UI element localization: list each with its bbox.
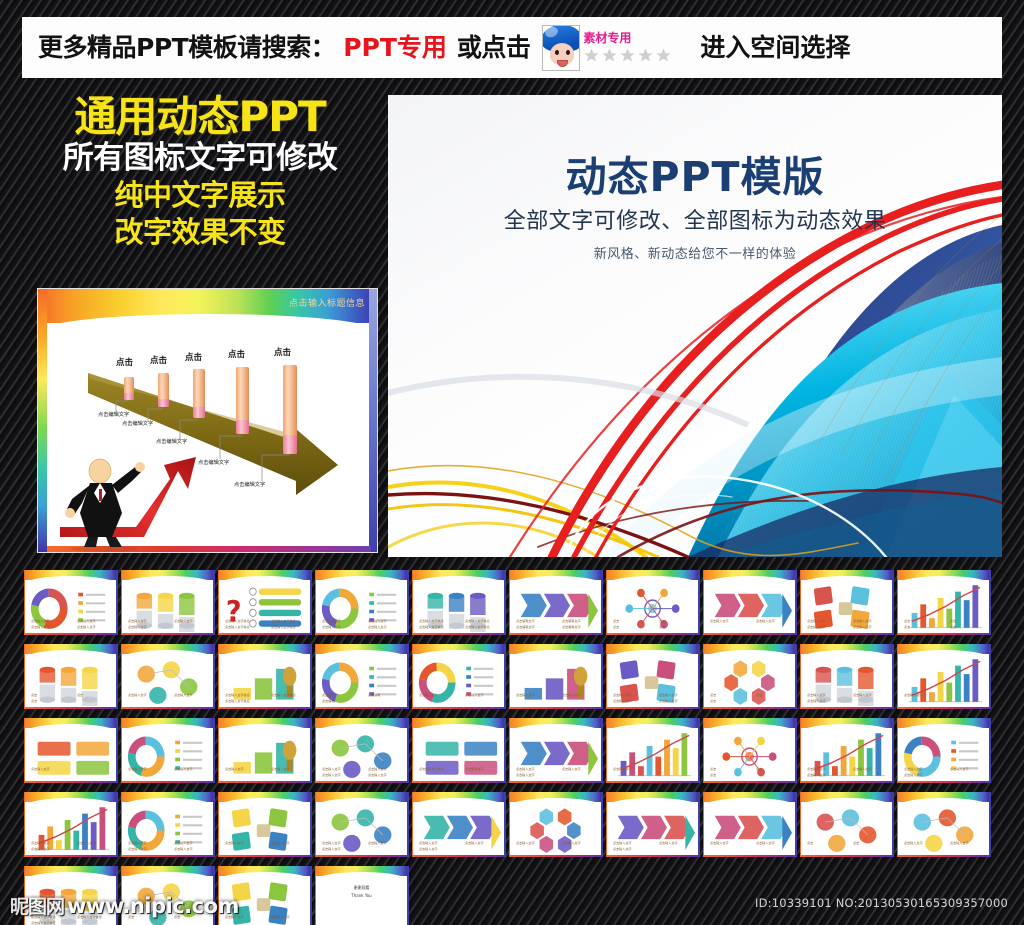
thumbnail-bottom-band (704, 855, 795, 857)
star-icon (601, 47, 618, 64)
thumbnail-label: 点击 (807, 840, 813, 845)
thumbnail-label: 点击输入文字 (807, 624, 826, 629)
hero-tagline: 新风格、新动态给您不一样的体验 (388, 243, 1002, 262)
thumbnail-label: 点击输入文字信息 (225, 618, 250, 623)
slide-thumbnail-grid: 点击输入文字点击输入文字点击输入文字点击输入文字 点击输入文字点击输入文字点击输… (24, 570, 1004, 925)
thumbnail-label: 点击输入文字 (31, 624, 50, 629)
interlocking-arrow-diamonds-icon (222, 803, 307, 854)
thumbnail-label: 点击输入文字 (562, 840, 581, 845)
slide-thumbnail[interactable]: 点击点击点击点击 (897, 570, 991, 635)
thumbnail-bottom-band (510, 781, 601, 783)
slide-thumbnail[interactable]: 点击编辑点击编辑点击编辑 (315, 644, 409, 709)
three-funnels-to-cylinders-icon (28, 655, 113, 706)
thumbnail-label: 点击输入文字信息 (271, 618, 296, 623)
thumbnail-bottom-band (413, 781, 504, 783)
thumbnail-label: 点击输入文字 (904, 840, 923, 845)
thumbnail-label: 点击输入文字 (419, 846, 438, 851)
slide-thumbnail[interactable]: 点击输入文字点击输入文字点击输入文字点击输入文字 (606, 644, 700, 709)
thumbnail-bottom-band (898, 855, 989, 857)
thumbnail-label: 点击输入文字 (562, 692, 581, 697)
thumbnail-label: 点击输入文字 (853, 766, 872, 771)
thumbnail-label: 点击输入文字 (128, 766, 147, 771)
balloon-tree-hierarchy-icon (804, 803, 889, 854)
thumbnail-label: 点击 (950, 618, 956, 623)
thumbnail-label: 点击输入文字 (659, 840, 678, 845)
molecule-goblets-diagram-icon (707, 729, 792, 780)
thumbnail-top-band (413, 718, 504, 728)
thumbnail-top-band (704, 570, 795, 580)
promo-header-banner: 更多精品PPT模板请搜索： PPT专用 或点击 素材专用 进入空间选择 (22, 17, 1002, 78)
slide-thumbnail[interactable]: 点击输入文字点击输入文字 (703, 792, 797, 857)
thumbnail-bottom-band (25, 633, 116, 635)
thumbnail-top-band (704, 644, 795, 654)
promo-line-4: 改字效果不变 (24, 215, 376, 250)
header-mid-text: 或点击 (457, 35, 531, 60)
slide-thumbnail[interactable]: 点击输入文字信息点击输入文字信息点击输入文字信息 (218, 644, 312, 709)
thumbnail-top-band (704, 792, 795, 802)
thumbnail-top-band (122, 644, 213, 654)
thumbnail-label: 点击输入文字 (322, 766, 341, 771)
thumbnail-top-band (704, 718, 795, 728)
thumbnail-bottom-band (122, 707, 213, 709)
thumbnail-label: 点击输入文字 (368, 618, 387, 623)
four-discs-network-icon (610, 581, 695, 632)
thumbnail-bottom-band (122, 633, 213, 635)
thumbnail-label: 点击 (710, 766, 716, 771)
thumbnail-artwork (901, 581, 986, 632)
thumbnail-bottom-band (898, 707, 989, 709)
thumbnail-label: 点击 (904, 624, 910, 629)
slide-thumbnail[interactable]: 点击输入文字 (897, 644, 991, 709)
header-star-rating (583, 47, 672, 64)
thumbnail-label: 点击输入文字 (368, 624, 387, 629)
thumbnail-label: 点击输入文字 (516, 772, 535, 777)
thumbnail-artwork (901, 655, 986, 706)
thumbnail-top-band (510, 792, 601, 802)
thumbnail-label: 点击输入文字 (710, 840, 729, 845)
thumbnail-label: 点击编辑文字 (562, 624, 581, 629)
thumbnail-label: 点击 (659, 618, 665, 623)
thumbnail-label: 点击输入文字 (322, 840, 341, 845)
slide-thumbnail[interactable]: 点击输入文字点击输入文字点击输入文字 (24, 792, 118, 857)
thumbnail-label: 点击输入文字 (31, 846, 50, 851)
header-badge-label: 素材专用 (583, 32, 672, 45)
six-petal-flower-with-figures-icon (707, 655, 792, 706)
thumbnail-label: 点击输入文字 (807, 772, 826, 777)
thumbnail-top-band (316, 570, 407, 580)
thumbnail-top-band (413, 644, 504, 654)
thumbnail-label: 点击输入文字 (807, 698, 826, 703)
star-icon (637, 47, 654, 64)
slide-thumbnail[interactable]: 点击输入文字点击输入文字 (121, 644, 215, 709)
thumbnail-top-band (801, 570, 892, 580)
percent-figure-with-hexagons-icon (513, 803, 598, 854)
promo-line-3: 纯中文字展示 (24, 178, 376, 213)
slide-thumbnail[interactable]: 点击输入文字 (24, 718, 118, 783)
thumbnail-label: 点击输入文字 (562, 766, 581, 771)
descending-arrow-with-columns-icon (901, 581, 986, 632)
thumbnail-label: 点击输入文字 (128, 840, 147, 845)
thumbnail-top-band (510, 718, 601, 728)
thumbnail-artwork (610, 729, 695, 780)
slide-thumbnail[interactable]: 点击输入文字点击输入文字 (121, 718, 215, 783)
hero-subtitle: 全部文字可修改、全部图标为动态效果 (388, 203, 1002, 235)
thumbnail-label: 点击 (853, 840, 859, 845)
thumbnail-label: 点击输入文字 (710, 618, 729, 623)
chart-leader-label: 点击编辑文字 (122, 420, 153, 427)
thumbnail-label: 点击输入文字 (613, 846, 632, 851)
thumbnail-label: 点击输入文字 (659, 698, 678, 703)
thumbnail-label: 点击输入文字 (77, 624, 96, 629)
thumbnail-label: 点击输入文字 (613, 698, 632, 703)
header-keyword[interactable]: PPT专用 (343, 35, 447, 60)
thumbnail-label: 点击输入文字 (225, 840, 244, 845)
thumbnail-label: 点击 (613, 624, 619, 629)
thumbnail-top-band (25, 570, 116, 580)
thumbnail-label: 点击输入文字 (128, 618, 147, 623)
thumbnail-artwork (222, 803, 307, 854)
thumbnail-label: 点击输入文字 (77, 618, 96, 623)
thumbnail-label: 点击输入文字 (368, 766, 387, 771)
thumbnail-bottom-band (607, 633, 698, 635)
thumbnail-label: 点击输入文字信息 (31, 920, 56, 925)
thumbnail-top-band (898, 570, 989, 580)
thumbnail-top-band (316, 718, 407, 728)
thumbnail-bottom-band (25, 707, 116, 709)
thumbnail-label: 点击输入文字 (950, 766, 969, 771)
thumbnail-top-band (607, 792, 698, 802)
thumbnail-label: 点击输入文字 (271, 914, 290, 919)
slide-thumbnail[interactable]: 点击输入文字信息点击输入文字信息点击输入文字信息点击输入文字信息 (412, 570, 506, 635)
thumbnail-label: 点击输入文字信息 (225, 698, 250, 703)
thumbnail-label: 点击输入文字 (419, 840, 438, 845)
thumbnail-artwork (222, 729, 307, 780)
thumbnail-artwork (513, 803, 598, 854)
chart-leader-label: 点击编辑文字 (98, 411, 129, 418)
thumbnail-bottom-band (219, 855, 310, 857)
thumbnail-top-band (219, 718, 310, 728)
slide-thumbnail[interactable]: 点击输入文字点击输入文字点击输入文字点击输入文字 (315, 718, 409, 783)
slide-thumbnail[interactable]: 谢谢观看Thank You (315, 866, 409, 925)
thumbnail-top-band (316, 866, 407, 876)
thumbnail-label: 点击输入文字 (904, 692, 923, 697)
thumbnail-top-band (122, 792, 213, 802)
thumbnail-top-band (219, 570, 310, 580)
thumbnail-top-band (801, 718, 892, 728)
thumbnail-label: 点击输入文字 (128, 846, 147, 851)
thumbnail-label: 点击输入文字信息 (225, 692, 250, 697)
thumbnail-label: 点击输入文字 (904, 766, 923, 771)
avatar-mouth (557, 60, 568, 67)
thumbnail-label: 点击编辑文字 (562, 618, 581, 623)
thumbnail-label: 点击输入文字 (174, 692, 193, 697)
slide-thumbnail[interactable]: 点击输入文字点击输入文字点击输入文字点击输入文字 (121, 792, 215, 857)
promo-text-block: 通用动态PPT 所有图标文字可修改 纯中文字展示 改字效果不变 (24, 96, 376, 250)
thumbnail-label: 点击输入文字 (756, 840, 775, 845)
thumbnail-label: 点击输入文字 (516, 766, 535, 771)
thumbnail-label: 点击输入文字信息 (465, 618, 490, 623)
thumbnail-bottom-band (413, 855, 504, 857)
thumbnail-bottom-band (607, 855, 698, 857)
slide-thumbnail[interactable]: 点击输入文字 (606, 718, 700, 783)
slide-thumbnail[interactable]: 点击编辑文字点击编辑文字点击编辑文字点击编辑文字 (509, 570, 603, 635)
thumbnail-label: 点击编辑文字信息 (419, 766, 444, 771)
thumbnail-label: 点击 (659, 624, 665, 629)
thumbnail-label: 点击 (31, 698, 37, 703)
thumbnail-top-band (219, 866, 310, 876)
thumbnail-label: 点击输入文字 (807, 618, 826, 623)
thumbnail-bottom-band (25, 855, 116, 857)
slide-thumbnail[interactable]: ? 点击输入文字信息点击输入文字信息点击输入文字信息点击输入文字信息 (218, 570, 312, 635)
thumbnail-artwork (901, 803, 986, 854)
chart-column-header: 点击 (228, 348, 245, 360)
slide-thumbnail[interactable]: 点击输入文字点击输入文字点击输入文字点击输入文字 (800, 570, 894, 635)
thumbnail-bottom-band (801, 781, 892, 783)
slide-thumbnail[interactable]: 点击输入文字点击输入文字点击输入文字点击输入文字 (315, 570, 409, 635)
thumbnail-label: 点击 (710, 692, 716, 697)
thumbnail-label: 点击 (77, 692, 83, 697)
thumbnail-bottom-band (510, 707, 601, 709)
thumbnail-label: 点击输入文字 (322, 772, 341, 777)
thumbnail-top-band (219, 644, 310, 654)
thumbnail-label: 点击输入文字 (322, 624, 341, 629)
thumbnail-top-band (122, 570, 213, 580)
thumbnail-top-band (122, 866, 213, 876)
thumbnail-label: 点击输入文字 (174, 846, 193, 851)
thumbnail-label: 点击输入文字 (853, 624, 872, 629)
slide-thumbnail[interactable]: 点击输入文字点击输入文字点击输入文字 (800, 718, 894, 783)
slide-thumbnail[interactable]: 点击输入文字点击输入文字 (897, 792, 991, 857)
thumbnail-bottom-band (122, 855, 213, 857)
thumbnail-label: 点击编辑 (322, 698, 334, 703)
thumbnail-artwork (513, 655, 598, 706)
slide-thumbnail[interactable]: 点击输入文字点击输入文字 (509, 644, 603, 709)
thumbnail-top-band (316, 792, 407, 802)
thumbnail-label: 点击 (710, 772, 716, 777)
thumbnail-artwork (416, 729, 501, 780)
thumbnail-label: 点击输入文字 (613, 766, 632, 771)
slide-thumbnail[interactable]: 点击输入文字点击输入文字 (509, 792, 603, 857)
thumbnail-artwork (610, 581, 695, 632)
thumbnail-top-band (607, 644, 698, 654)
thumbnail-bottom-band (219, 633, 310, 635)
slide-thumbnail[interactable]: 点击输入文字点击输入文字 (218, 792, 312, 857)
star-icon (655, 47, 672, 64)
thumbnail-label: 点击输入文字 (31, 618, 50, 623)
slide-thumbnail[interactable]: 点击输入文字点击输入文字点击输入文字 (606, 792, 700, 857)
thumbnail-top-band (219, 792, 310, 802)
slide-thumbnail[interactable]: 点击点击 (800, 792, 894, 857)
thumbnail-label: 点击输入文字 (659, 692, 678, 697)
thumbnail-top-band (801, 644, 892, 654)
chart-leader-label: 点击编辑文字 (234, 481, 265, 488)
header-lead-text: 更多精品PPT模板请搜索： (38, 35, 335, 60)
circular-arrows-with-globe-icon (707, 803, 792, 854)
thumbnail-label: 点击输入文字 (807, 692, 826, 697)
thumbnail-bottom-band (413, 707, 504, 709)
four-circles-with-bar-icon (28, 729, 113, 780)
thumbnail-label: 点击输入文字 (271, 840, 290, 845)
thumbnail-label: 点击输入文字 (225, 766, 244, 771)
thumbnail-bottom-band (801, 855, 892, 857)
thumbnail-bottom-band (801, 633, 892, 635)
header-tail-text: 进入空间选择 (700, 35, 850, 60)
thumbnail-label: 点击输入文字信息 (419, 618, 444, 623)
thumbnail-label: 点击输入文字 (128, 692, 147, 697)
slide-thumbnail[interactable]: 点击输入文字点击输入文字 (218, 718, 312, 783)
thumbnail-top-band (25, 792, 116, 802)
thumbnail-label: 点击输入文字 (853, 618, 872, 623)
star-icon (619, 47, 636, 64)
thumbnail-label: 点击编辑文字 (465, 766, 484, 771)
thumbnail-label: 点击输入文字 (271, 766, 290, 771)
horizontal-bar-chart-icon (610, 729, 695, 780)
thumbnail-label: 点击输入文字 (465, 840, 484, 845)
thumbnail-top-band (413, 570, 504, 580)
slide-thumbnail[interactable]: 点击输入文字点击输入文字点击输入文字 (315, 792, 409, 857)
thumbnail-artwork (804, 803, 889, 854)
promo-line-1: 通用动态PPT (24, 96, 376, 139)
slide-thumbnail[interactable]: 点击点击点击 (703, 718, 797, 783)
thumbnail-label: 点击输入文字 (128, 624, 147, 629)
thumbnail-bottom-band (219, 781, 310, 783)
thumbnail-top-band (510, 570, 601, 580)
thumbnail-bottom-band (219, 707, 310, 709)
slide-thumbnail[interactable]: 点击输入文字点击输入文字 (412, 644, 506, 709)
slide-thumbnail[interactable]: 点击编辑文字信息点击编辑文字 (412, 718, 506, 783)
thumbnail-label: 点击 (710, 698, 716, 703)
thumbnail-bottom-band (704, 633, 795, 635)
venn-ovals-with-table-icon (901, 803, 986, 854)
thumbnail-label: 点击输入文字信息 (419, 624, 444, 629)
thumbnail-label: 点击输入文字信息 (271, 692, 296, 697)
descending-arrow-graphic (38, 289, 378, 553)
thumbnail-label: 点击输入文字 (904, 772, 923, 777)
header-avatar-group[interactable]: 素材专用 (542, 25, 672, 71)
thumbnail-artwork (707, 581, 792, 632)
thumbnail-bottom-band (25, 781, 116, 783)
blue-haired-avatar-icon[interactable] (542, 25, 580, 71)
thumbnail-top-band (607, 718, 698, 728)
header-badge-column: 素材专用 (583, 25, 672, 71)
exploded-pie-with-people-icon (416, 655, 501, 706)
thumbnail-label: 点击 (904, 618, 910, 623)
slide-thumbnail[interactable]: 点击输入文字点击输入文字点击输入文字 (897, 718, 991, 783)
target-figure-with-steps-icon (222, 729, 307, 780)
chart-column-header: 点击 (116, 356, 133, 368)
hero-slide-preview[interactable]: 动态PPT模版 全部文字可修改、全部图标为动态效果 新风格、新动态给您不一样的体… (388, 95, 1002, 557)
sphere-with-three-balls-icon (125, 655, 210, 706)
watermark-url: www.nipic.com (67, 894, 239, 918)
star-icon (583, 47, 600, 64)
thumbnail-bottom-band (510, 855, 601, 857)
chart-column-header: 点击 (185, 351, 202, 363)
thumbnail-label: 点击输入文字 (322, 618, 341, 623)
thumbnail-top-band (25, 644, 116, 654)
thumbnail-top-band (25, 866, 116, 876)
asset-id-code: ID:10339101 NO:20130530165309357000 (755, 896, 1008, 910)
slide-thumbnail[interactable]: 点击点击点击点击 (606, 570, 700, 635)
thumbnail-label: 点击输入文字 (613, 840, 632, 845)
podium-blocks-with-figures-icon (513, 655, 598, 706)
slide-thumbnail[interactable]: 点击输入文字点击输入文字点击输入文字 (121, 570, 215, 635)
thumbnail-artwork (707, 655, 792, 706)
thumbnail-bottom-band (704, 781, 795, 783)
thumbnail-label: 点击 (756, 692, 762, 697)
site-watermark: 昵图网 www.nipic.com (10, 892, 239, 919)
thumbnail-label: 点击输入文字 (174, 618, 193, 623)
thumbnail-artwork (125, 729, 210, 780)
thumbnail-top-band (898, 792, 989, 802)
thank-you-text: 谢谢观看Thank You (316, 884, 407, 899)
thumbnail-top-band (510, 644, 601, 654)
promo-line-2: 所有图标文字可修改 (24, 141, 376, 177)
thumbnail-label: 点击输入文字 (31, 766, 50, 771)
thumbnail-bottom-band (704, 707, 795, 709)
thumbnail-bottom-band (316, 707, 407, 709)
rising-bar-chart-with-trend-icon (901, 655, 986, 706)
thumbnail-bottom-band (316, 781, 407, 783)
thumbnail-label: 点击输入文字 (516, 840, 535, 845)
thumbnail-artwork (28, 655, 113, 706)
slide-thumbnail[interactable]: 点击点击点击 (703, 644, 797, 709)
thumbnail-label: 点击输入文字 (174, 766, 193, 771)
thumbnail-label: 点击编辑 (322, 692, 334, 697)
thumbnail-label: 点击输入文字 (419, 692, 438, 697)
thumbnail-artwork (28, 729, 113, 780)
thumbnail-label: 点击 (756, 766, 762, 771)
exploded-3d-pie-icon (125, 729, 210, 780)
thumbnail-label: 点击 (31, 692, 37, 697)
thumbnail-label: 点击输入文字 (516, 692, 535, 697)
ascending-ellipses-banner-icon (416, 729, 501, 780)
slide-thumbnail[interactable]: 点击输入文字点击输入文字点击输入文字 (509, 718, 603, 783)
thumbnail-label: 点击输入文字 (31, 840, 50, 845)
thumbnail-label: 点击输入文字 (807, 766, 826, 771)
thumbnail-bottom-band (898, 633, 989, 635)
thumbnail-label: 点击输入文字 (950, 840, 969, 845)
chart-slide-preview[interactable]: 点击输入标题信息 (37, 288, 378, 553)
thumbnail-top-band (898, 718, 989, 728)
thumbnail-bottom-band (413, 633, 504, 635)
thumbnail-artwork (707, 803, 792, 854)
slide-thumbnail[interactable]: 点击点击点击 (24, 644, 118, 709)
thumbnail-bottom-band (801, 707, 892, 709)
thumbnail-top-band (607, 570, 698, 580)
thumbnail-label: 点击输入文字 (756, 618, 775, 623)
watermark-site-name: 昵图网 (10, 892, 64, 919)
thumbnail-bottom-band (510, 633, 601, 635)
thumbnail-artwork (125, 655, 210, 706)
chart-column-header: 点击 (150, 354, 167, 366)
thumbnail-label: 点击 (613, 618, 619, 623)
thumbnail-bottom-band (898, 781, 989, 783)
slide-thumbnail[interactable]: 点击输入文字点击输入文字点击输入文字 (800, 644, 894, 709)
thumbnail-label: 点击输入文字信息 (465, 624, 490, 629)
thumbnail-label: 点击输入文字 (77, 840, 96, 845)
slide-thumbnail[interactable]: 点击输入文字点击输入文字 (703, 570, 797, 635)
thumbnail-label: 点击编辑文字 (516, 624, 535, 629)
thumbnail-top-band (316, 644, 407, 654)
thumbnail-top-band (122, 718, 213, 728)
slide-thumbnail[interactable]: 点击输入文字点击输入文字点击输入文字点击输入文字 (24, 570, 118, 635)
hero-title: 动态PPT模版 (388, 143, 1002, 203)
slide-thumbnail[interactable]: 点击输入文字点击输入文字点击输入文字 (412, 792, 506, 857)
thumbnail-label: 点击编辑文字 (516, 618, 535, 623)
thumbnail-artwork (707, 729, 792, 780)
thumbnail-bottom-band (316, 855, 407, 857)
thumbnail-label: 点击输入文字 (368, 840, 387, 845)
